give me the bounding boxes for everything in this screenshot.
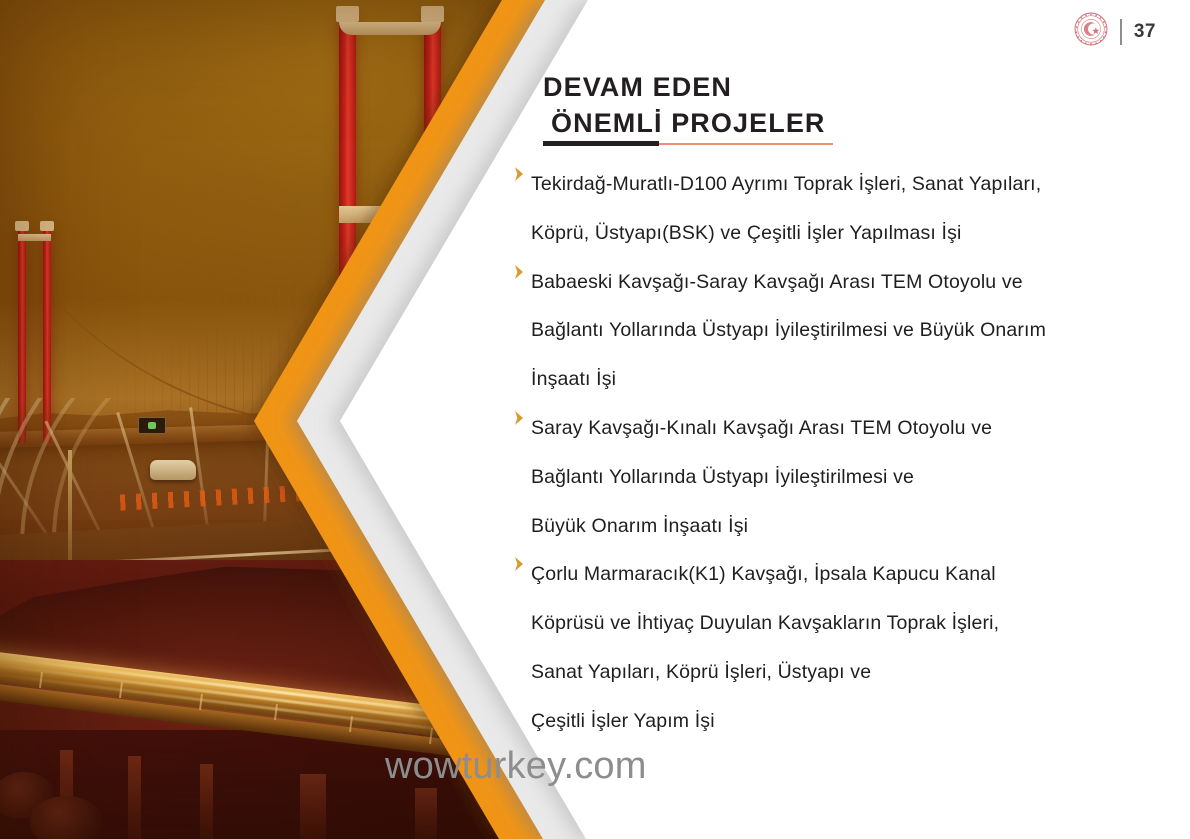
watermark: wowturkey.com bbox=[385, 745, 647, 788]
photo-viaduct-pier bbox=[415, 788, 437, 839]
photo-lane-sign bbox=[445, 417, 473, 434]
list-item-text: Çorlu Marmaracık(K1) Kavşağı, İpsala Kap… bbox=[531, 550, 1133, 745]
list-item-text: Saray Kavşağı-Kınalı Kavşağı Arası TEM O… bbox=[531, 404, 1133, 550]
photo-viaduct-pier bbox=[300, 774, 326, 839]
list-item-text: Tekirdağ-Muratlı-D100 Ayrımı Toprak İşle… bbox=[531, 160, 1133, 258]
chevron-right-icon bbox=[513, 164, 525, 184]
brand-divider bbox=[1120, 19, 1122, 45]
turkish-state-emblem-icon bbox=[1074, 12, 1108, 51]
photo-light-pole bbox=[68, 450, 72, 570]
list-item-text: Babaeski Kavşağı-Saray Kavşağı Arası TEM… bbox=[531, 258, 1133, 404]
photo-lane-sign bbox=[138, 417, 166, 434]
photo-tower-cap bbox=[40, 221, 54, 231]
slide-content: 37 DEVAM EDEN ÖNEMLİ PROJELER Tekirdağ-M… bbox=[505, 0, 1190, 839]
title-underline bbox=[543, 135, 833, 143]
photo-bridge-tower-leg bbox=[339, 16, 356, 446]
page-number: 37 bbox=[1134, 21, 1156, 43]
page-title: DEVAM EDEN ÖNEMLİ PROJELER bbox=[543, 70, 963, 141]
photo-bridge-tower-leg bbox=[424, 16, 441, 446]
list-item: Tekirdağ-Muratlı-D100 Ayrımı Toprak İşle… bbox=[513, 160, 1133, 258]
photo-tower-cap bbox=[15, 221, 29, 231]
chevron-right-icon bbox=[513, 262, 525, 282]
list-item: Saray Kavşağı-Kınalı Kavşağı Arası TEM O… bbox=[513, 404, 1133, 550]
brand-bar: 37 bbox=[1074, 12, 1156, 51]
photo-tower-crossbeam bbox=[339, 206, 441, 223]
photo-tower-arch-beam bbox=[339, 22, 441, 35]
presentation-slide: 37 DEVAM EDEN ÖNEMLİ PROJELER Tekirdağ-M… bbox=[0, 0, 1190, 839]
page-title-line-1: DEVAM EDEN bbox=[543, 70, 963, 106]
chevron-right-icon bbox=[513, 554, 525, 574]
photo-car bbox=[150, 460, 196, 480]
photo-viaduct bbox=[0, 560, 560, 839]
list-item: Çorlu Marmaracık(K1) Kavşağı, İpsala Kap… bbox=[513, 550, 1133, 745]
photo-tower-crossbeam bbox=[18, 234, 51, 241]
photo-suspender-cables bbox=[0, 40, 560, 430]
photo-viaduct-pier bbox=[128, 756, 141, 839]
photo-viaduct-pier bbox=[200, 764, 213, 839]
photo-lane-sign bbox=[300, 415, 328, 432]
list-item: Babaeski Kavşağı-Saray Kavşağı Arası TEM… bbox=[513, 258, 1133, 404]
photo-tower-cap bbox=[421, 6, 444, 22]
background-photo-collage bbox=[0, 0, 560, 839]
photo-shrub bbox=[30, 796, 102, 839]
chevron-right-icon bbox=[513, 408, 525, 428]
photo-tower-cap bbox=[336, 6, 359, 22]
bullet-list: Tekirdağ-Muratlı-D100 Ayrımı Toprak İşle… bbox=[513, 160, 1133, 746]
